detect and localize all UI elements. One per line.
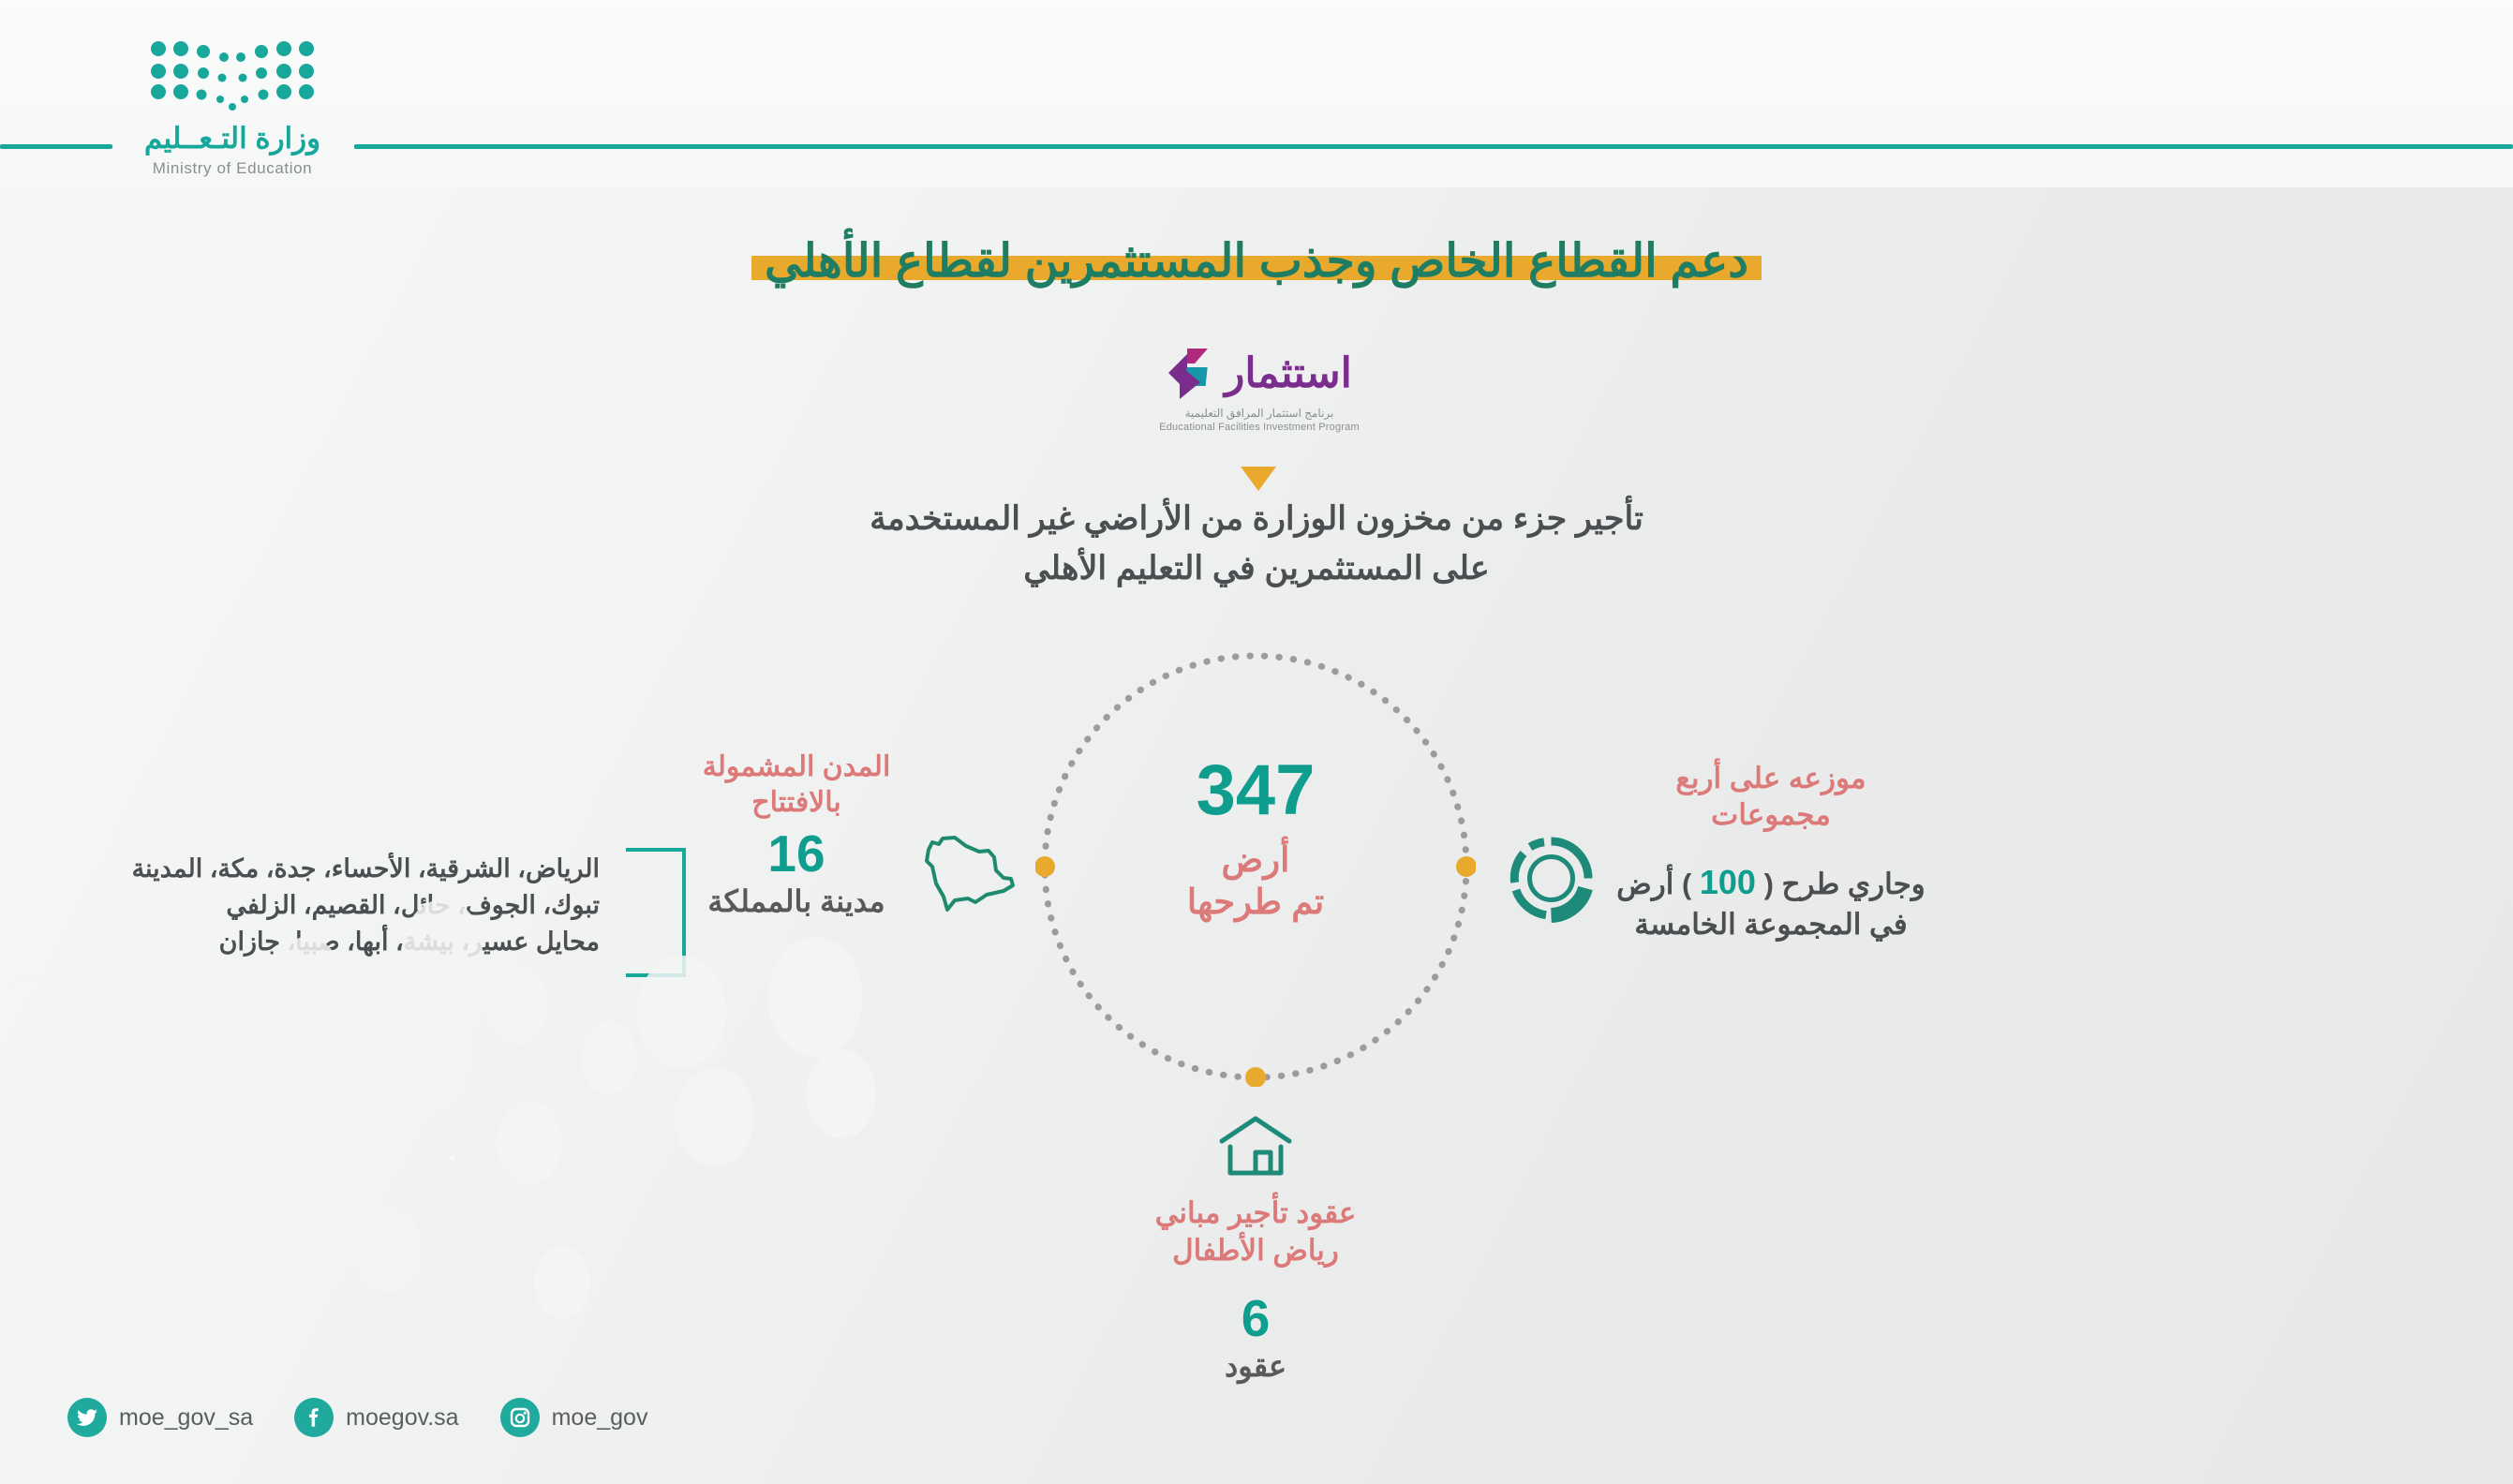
cities-heading-1: المدن المشمولة: [656, 749, 937, 785]
social-item-facebook[interactable]: moegov.sa: [294, 1398, 458, 1437]
groups-note-line-2: في المجموعة الخامسة: [1584, 905, 1958, 944]
social-handle-facebook[interactable]: moegov.sa: [346, 1404, 458, 1432]
cities-value: 16: [656, 827, 937, 882]
page-title-wrap: دعم القطاع الخاص وجذب المستثمرين لقطاع ا…: [0, 234, 2513, 288]
background-bokeh-circle: [637, 956, 726, 1068]
hub-circle: 347 أرض تم طرحها: [1035, 646, 1476, 1087]
ministry-name-ar: وزارة التـعــليم: [111, 123, 354, 155]
contracts-heading-1: عقود تأجير مباني: [1068, 1195, 1443, 1232]
hub-number: 347: [1035, 755, 1476, 826]
header-band: [0, 0, 2513, 187]
donut-chart-icon: [1507, 834, 1596, 923]
background-bokeh-circle: [56, 1106, 141, 1213]
background-bokeh-circle: [56, 1293, 136, 1396]
cities-stat-block: المدن المشمولة بالافتتاح 16 مدينة بالممل…: [656, 749, 937, 919]
cities-heading-2: بالافتتاح: [656, 785, 937, 821]
ministry-logo: وزارة التـعــليم Ministry of Education: [111, 37, 354, 178]
subtitle-line-1: تأجير جزء من مخزون الوزارة من الأراضي غي…: [601, 495, 1912, 544]
background-bokeh-circle: [806, 1049, 876, 1138]
cities-line-2: تبوك، الجوف، حائل، القصيم، الزلفي: [28, 887, 600, 924]
cities-unit: مدينة بالمملكة: [656, 883, 937, 919]
program-subtitle-ar: برنامج استثمار المرافق التعليمية: [1147, 407, 1372, 420]
groups-note-number: 100: [1700, 863, 1756, 901]
groups-note-prefix: وجاري طرح (: [1756, 868, 1926, 900]
istithmar-arrow-mark-icon: [1167, 347, 1219, 401]
background-bokeh-circle: [534, 1246, 590, 1319]
facebook-icon[interactable]: [294, 1398, 334, 1437]
social-item-twitter[interactable]: moe_gov_sa: [67, 1398, 253, 1437]
background-bokeh-circle: [394, 1017, 468, 1110]
background-bokeh-circle: [112, 899, 216, 1031]
program-logo: استثمار برنامج استثمار المرافق التعليمية…: [1147, 347, 1372, 433]
background-bokeh-circle: [497, 1101, 562, 1185]
page-title: دعم القطاع الخاص وجذب المستثمرين لقطاع ا…: [765, 234, 1748, 288]
background-bokeh-circle: [581, 1021, 637, 1094]
subtitle-line-2: على المستثمرين في التعليم الأهلي: [601, 544, 1912, 594]
program-subtitle-en: Educational Facilities Investment Progra…: [1147, 422, 1372, 433]
social-item-instagram[interactable]: moe_gov: [500, 1398, 648, 1437]
background-bokeh-circle: [234, 1031, 347, 1171]
background-bokeh-circle: [272, 937, 342, 1026]
groups-heading-2: مجموعات: [1584, 797, 1958, 834]
social-handle-twitter[interactable]: moe_gov_sa: [119, 1404, 253, 1432]
program-logo-word: استثمار: [1225, 353, 1352, 394]
background-bokeh-circle: [403, 899, 483, 1001]
contracts-stat-block: عقود تأجير مباني رياض الأطفال 6 عقود: [1068, 1115, 1443, 1384]
social-handle-instagram[interactable]: moe_gov: [552, 1404, 648, 1432]
ministry-name-en: Ministry of Education: [111, 159, 354, 178]
contracts-unit: عقود: [1068, 1348, 1443, 1384]
hub-label-2: تم طرحها: [1035, 881, 1476, 924]
background-bokeh-circle: [356, 1209, 422, 1293]
groups-note-middle: ) أرض: [1616, 868, 1700, 900]
groups-stat-block: موزعه على أربع مجموعات وجاري طرح ( 100 )…: [1584, 761, 1958, 944]
triangle-down-icon: [1241, 467, 1276, 491]
background-bokeh-circle: [487, 965, 548, 1045]
subtitle-block: تأجير جزء من مخزون الوزارة من الأراضي غي…: [601, 495, 1912, 593]
social-bar: moe_gov moegov.sa moe_gov_sa: [67, 1398, 647, 1437]
infographic-page: وزارة التـعــليم Ministry of Education د…: [0, 0, 2513, 1484]
background-bokeh-circle: [0, 1180, 56, 1274]
hub-label-1: أرض: [1035, 839, 1476, 881]
cities-line-1: الرياض، الشرقية، الأحساء، جدة، مكة، المد…: [28, 851, 600, 887]
contracts-value: 6: [1068, 1293, 1443, 1344]
moe-palm-dots-icon: [143, 37, 321, 114]
header-rule-left: [0, 144, 112, 149]
groups-note: وجاري طرح ( 100 ) أرض في المجموعة الخامس…: [1584, 860, 1958, 944]
header-rule-right: [354, 144, 2513, 149]
background-bokeh-circle: [768, 937, 862, 1057]
house-icon: [1218, 1115, 1293, 1177]
background-bokeh-circle: [675, 1068, 754, 1166]
contracts-heading-2: رياض الأطفال: [1068, 1232, 1443, 1269]
instagram-icon[interactable]: [500, 1398, 540, 1437]
hub-node-bottom: [1245, 1067, 1266, 1087]
groups-heading-1: موزعه على أربع: [1584, 761, 1958, 797]
twitter-icon[interactable]: [67, 1398, 107, 1437]
